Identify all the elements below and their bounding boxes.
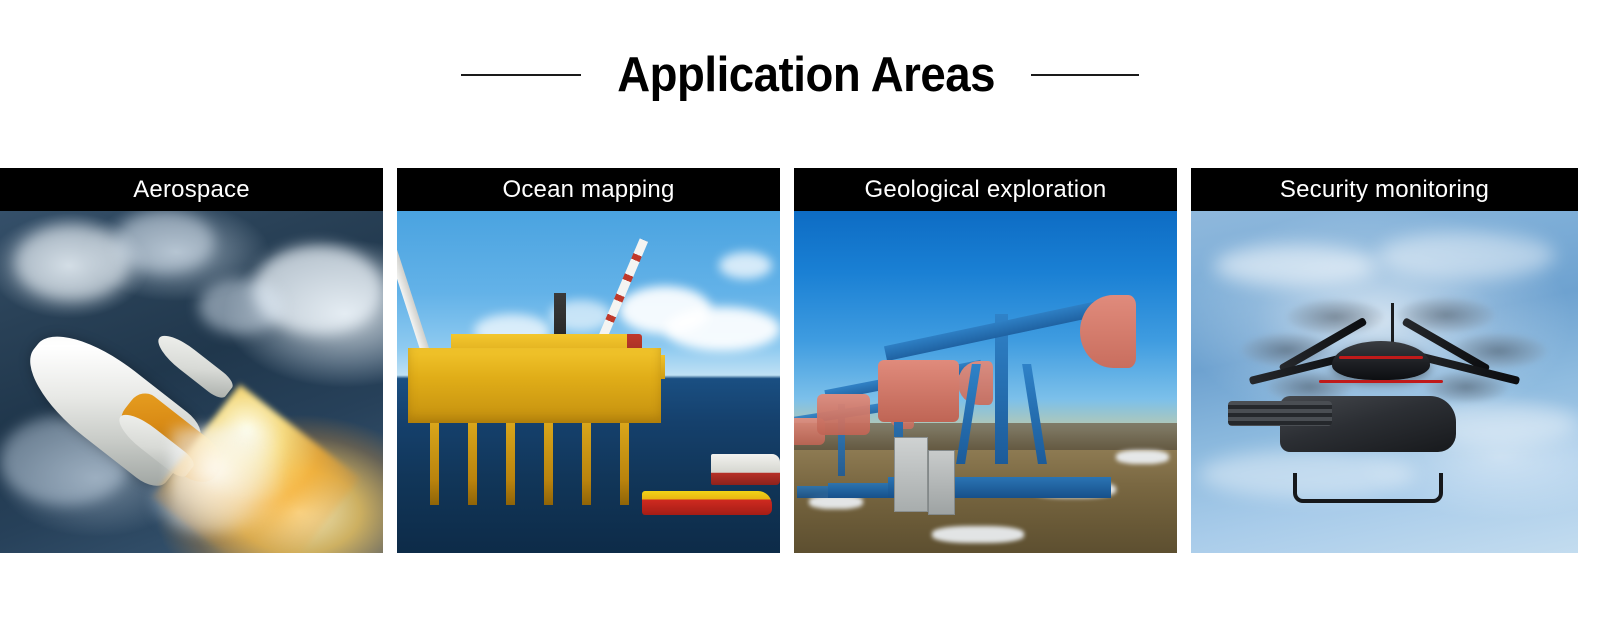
card-image-surveillance-drone (1191, 211, 1578, 553)
card-label: Geological exploration (865, 178, 1107, 202)
platform-leg (506, 423, 515, 505)
application-card-security-monitoring[interactable]: Security monitoring (1191, 168, 1578, 553)
card-image-rocket-launch (0, 211, 383, 553)
card-label-bar: Aerospace (0, 168, 383, 211)
drone-antenna (1391, 303, 1394, 345)
card-image-offshore-platform (397, 211, 780, 553)
platform-leg (468, 423, 477, 505)
platform-leg (430, 423, 439, 505)
platform-leg (544, 423, 553, 505)
application-card-grid: Aerospace (0, 168, 1600, 554)
platform-legs (416, 423, 653, 505)
drone-shape (1222, 286, 1547, 498)
pumpjack-horsehead (1080, 295, 1136, 368)
control-cabinet (928, 450, 955, 515)
rocket-booster (152, 328, 237, 401)
heading-divider-left-icon (461, 74, 581, 76)
snow-patch (932, 526, 1024, 543)
card-image-oil-pumpjacks (794, 211, 1177, 553)
application-card-ocean-mapping[interactable]: Ocean mapping (397, 168, 780, 553)
drone-landing-skid (1293, 473, 1443, 503)
cloud-shape (1214, 245, 1377, 286)
pumpjack-post-brace (1022, 364, 1047, 464)
cloud-shape (15, 225, 130, 300)
card-label: Aerospace (133, 178, 250, 202)
drone-accent-stripe (1339, 356, 1424, 359)
application-card-aerospace[interactable]: Aerospace (0, 168, 383, 553)
supply-boat (642, 491, 772, 515)
cloud-shape (665, 307, 780, 351)
card-label: Security monitoring (1280, 178, 1489, 202)
platform-crane (397, 229, 432, 362)
cloud-shape (0, 416, 130, 505)
platform-main-deck (408, 348, 661, 423)
application-card-geological-exploration[interactable]: Geological exploration (794, 168, 1177, 553)
heading-divider-right-icon (1031, 74, 1139, 76)
card-label: Ocean mapping (502, 178, 674, 202)
card-label-bar: Ocean mapping (397, 168, 780, 211)
cloud-shape (115, 211, 215, 273)
application-areas-section: Application Areas Aerospace (0, 0, 1600, 619)
card-label-bar: Geological exploration (794, 168, 1177, 211)
pumpjack-counterweight (878, 360, 959, 421)
card-label-bar: Security monitoring (1191, 168, 1578, 211)
page-title: Application Areas (617, 51, 995, 100)
cloud-shape (199, 279, 283, 334)
drone-accent-stripe (1319, 380, 1443, 383)
platform-leg (620, 423, 629, 505)
cloud-shape (719, 252, 773, 279)
support-vessel (711, 454, 780, 485)
section-heading: Application Areas (0, 40, 1600, 110)
cloud-shape (1377, 232, 1555, 280)
platform-leg (582, 423, 591, 505)
drone-rotor (1287, 299, 1385, 335)
drone-payload-barrels (1228, 401, 1332, 426)
pumpjack-counterweight (817, 394, 870, 435)
cloud-shape (153, 464, 253, 532)
drone-body-hub (1332, 341, 1430, 379)
pumpjack-post-brace (956, 364, 981, 464)
control-cabinet (894, 437, 928, 512)
